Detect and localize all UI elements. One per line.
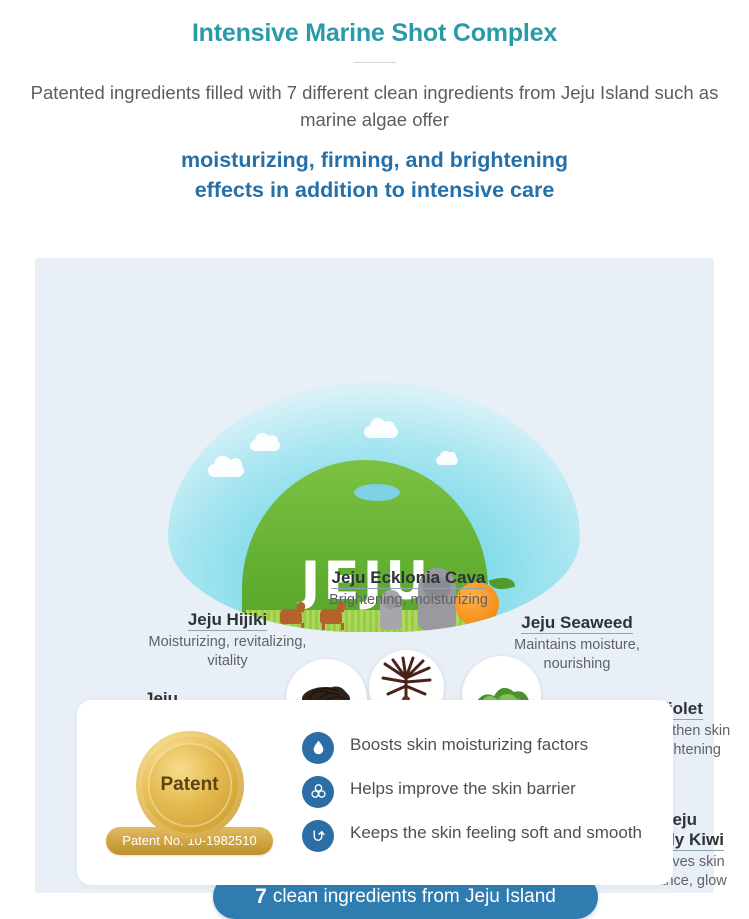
ingredient-label-hijiki: Jeju Hijiki Moisturizing, revitalizing, …	[130, 610, 325, 671]
ingredient-label-seaweed: Jeju Seaweed Maintains moisture, nourish…	[487, 613, 667, 674]
patent-seal-inner: Patent	[148, 743, 232, 827]
page-title: Intensive Marine Shot Complex	[0, 18, 749, 48]
ingredient-desc: Brightening, moisturizing	[301, 591, 516, 610]
benefit-item: Boosts skin moisturizing factors	[302, 734, 651, 764]
cloud-icon	[208, 464, 244, 477]
soft-skin-icon	[302, 820, 334, 852]
cloud-icon	[250, 440, 280, 451]
ingredient-desc: Maintains moisture, nourishing	[487, 636, 667, 674]
benefit-item: Keeps the skin feeling soft and smooth	[302, 822, 651, 852]
banner-count: 7	[255, 885, 267, 909]
ingredient-name-line-1: Jeju Hijiki	[188, 610, 267, 631]
ingredient-name-line-1: Jeju Seaweed	[521, 613, 633, 634]
title-divider	[354, 62, 396, 63]
cloud-icon	[364, 426, 398, 438]
intro-paragraph: Patented ingredients filled with 7 diffe…	[0, 79, 749, 134]
benefit-headline: moisturizing, firming, and brightening e…	[0, 145, 749, 206]
benefit-item: Helps improve the skin barrier	[302, 778, 651, 808]
headline-line-2: effects in addition to intensive care	[30, 175, 719, 206]
ingredient-label-ecklonia-cava: Jeju Ecklonia Cava Brightening, moisturi…	[301, 568, 516, 610]
patent-badge: Patent Patent No. 10-1982510	[77, 731, 302, 855]
benefit-text: Keeps the skin feeling soft and smooth	[350, 822, 642, 844]
ingredient-name: Jeju Hijiki	[130, 610, 325, 630]
patent-seal-icon: Patent	[136, 731, 244, 839]
ingredient-name: Jeju Seaweed	[487, 613, 667, 633]
cloud-icon	[436, 456, 458, 465]
crater-lake	[354, 484, 400, 501]
ingredients-panel: JEJU	[35, 258, 714, 893]
benefit-text: Helps improve the skin barrier	[350, 778, 576, 800]
water-drop-icon	[302, 732, 334, 764]
ingredient-name: Jeju Ecklonia Cava	[301, 568, 516, 588]
headline-line-1: moisturizing, firming, and brightening	[30, 145, 719, 176]
ingredient-desc: Moisturizing, revitalizing, vitality	[130, 633, 325, 671]
benefit-text: Boosts skin moisturizing factors	[350, 734, 588, 756]
header-section: Intensive Marine Shot Complex Patented i…	[0, 0, 749, 206]
banner-text: clean ingredients from Jeju Island	[273, 886, 556, 908]
benefits-list: Boosts skin moisturizing factors Helps i…	[302, 734, 673, 852]
benefits-card: Patent Patent No. 10-1982510 Boosts skin…	[77, 700, 673, 885]
skin-barrier-icon	[302, 776, 334, 808]
ingredient-name-line-1: Jeju Ecklonia Cava	[331, 568, 485, 589]
patent-seal-label: Patent	[160, 774, 218, 796]
